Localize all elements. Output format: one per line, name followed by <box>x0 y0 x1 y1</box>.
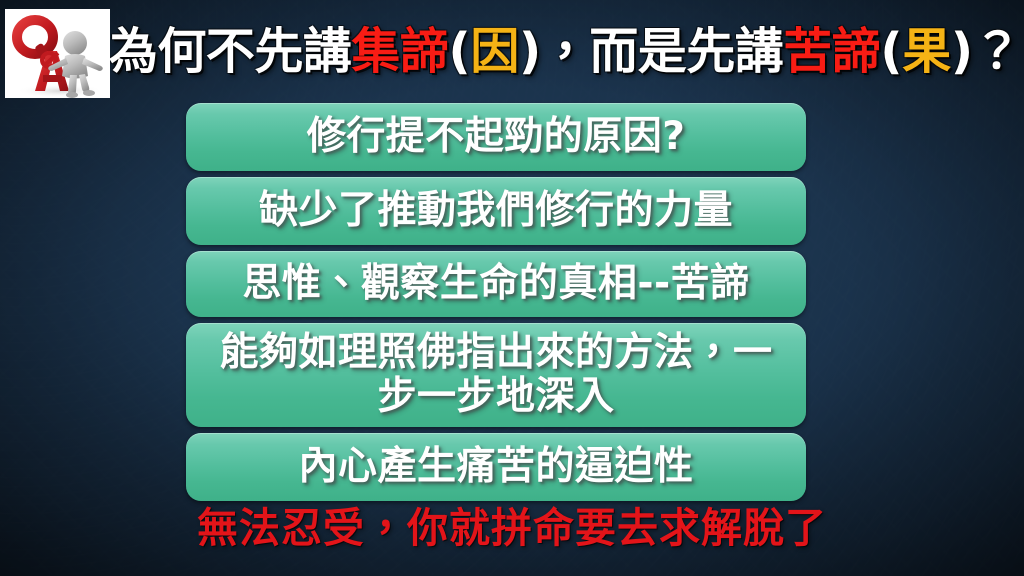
title-seg-5: ，而是先講 <box>541 23 784 80</box>
title-seg-3: 因 <box>470 23 519 80</box>
footer-conclusion: 無法忍受，你就拼命要去求解脫了 <box>0 508 1024 549</box>
content-box-3: 思惟、觀察生命的真相--苦諦 <box>186 251 806 317</box>
title-seg-7: ( <box>880 23 902 80</box>
content-box-2-label: 缺少了推動我們修行的力量 <box>251 189 741 233</box>
content-box-4-label: 能夠如理照佛指出來的方法，一 步一步地深入 <box>211 331 780 420</box>
slide-canvas: 為何不先講集諦(因)，而是先講苦諦(果)？ 修行提不起勁的原因? 缺少了推動我們… <box>0 0 1024 576</box>
title-seg-0: 為何不先講 <box>109 23 352 80</box>
slide-title: 為何不先講集諦(因)，而是先講苦諦(果)？ <box>109 27 1021 76</box>
qa-logo <box>5 9 110 98</box>
title-seg-8: 果 <box>902 23 951 80</box>
title-seg-1: 集諦 <box>351 23 448 80</box>
footer-conclusion-label: 無法忍受，你就拼命要去求解脫了 <box>197 504 827 552</box>
title-seg-2: ( <box>448 23 470 80</box>
content-box-1-label: 修行提不起勁的原因? <box>299 115 694 159</box>
content-box-4-line1: 能夠如理照佛指出來的方法，一 <box>219 331 772 375</box>
title-seg-6: 苦諦 <box>783 23 880 80</box>
content-box-2: 缺少了推動我們修行的力量 <box>186 177 806 245</box>
content-box-3-label: 思惟、觀察生命的真相--苦諦 <box>234 262 757 306</box>
title-seg-4: ) <box>519 23 541 80</box>
content-box-list: 修行提不起勁的原因? 缺少了推動我們修行的力量 思惟、觀察生命的真相--苦諦 能… <box>186 103 806 507</box>
qa-logo-icon <box>5 9 110 98</box>
content-box-5: 內心產生痛苦的逼迫性 <box>186 433 806 501</box>
content-box-5-label: 內心產生痛苦的逼迫性 <box>290 445 701 489</box>
title-seg-9: )？ <box>951 23 1021 80</box>
content-box-4-line2: 步一步地深入 <box>219 375 772 419</box>
slide-title-bar: 為何不先講集諦(因)，而是先講苦諦(果)？ <box>112 5 1018 97</box>
content-box-1: 修行提不起勁的原因? <box>186 103 806 171</box>
content-box-4: 能夠如理照佛指出來的方法，一 步一步地深入 <box>186 323 806 427</box>
